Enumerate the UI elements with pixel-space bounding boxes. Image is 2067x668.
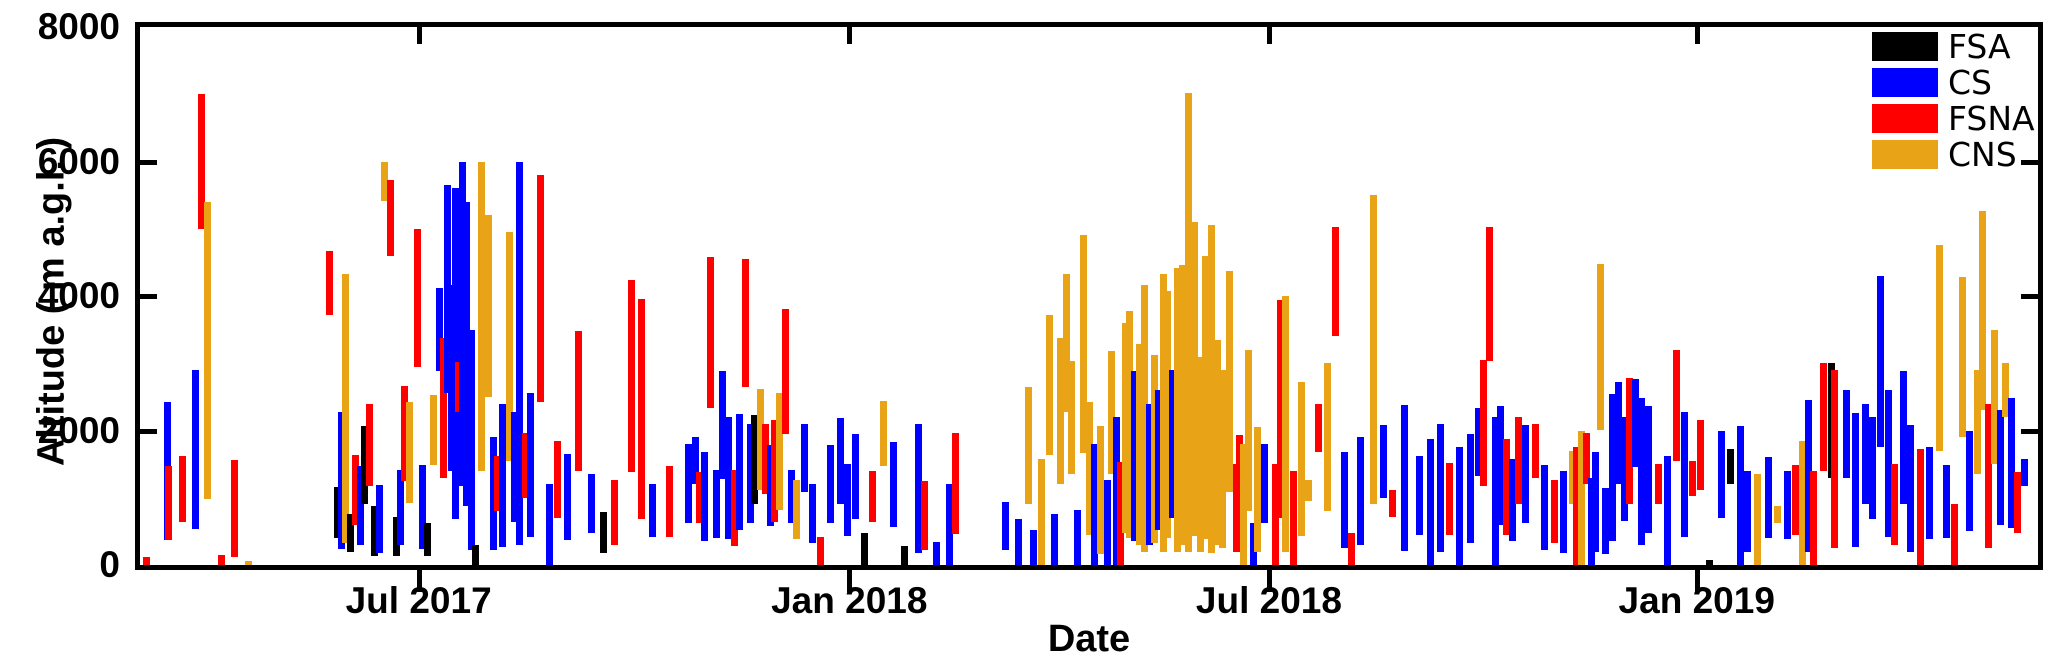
bar-segment [1051, 514, 1058, 565]
legend-item[interactable]: CNS [1872, 138, 2043, 171]
bar-segment [649, 484, 656, 536]
bar-segment [1486, 227, 1493, 361]
bar-segment [901, 546, 908, 565]
bar-segment [1689, 461, 1696, 495]
bar-segment [1290, 471, 1297, 565]
bar-segment [1664, 456, 1671, 565]
bar-segment [1979, 211, 1986, 410]
bar-segment [1551, 480, 1558, 543]
y-tick-mark [135, 160, 157, 165]
bar-segment [1541, 465, 1548, 550]
bar-segment [192, 370, 199, 529]
bar-segment [1681, 412, 1688, 537]
legend-label: CNS [1948, 138, 2017, 171]
bar-segment [472, 545, 479, 565]
bar-segment [1315, 404, 1322, 452]
bar-segment [1907, 425, 1914, 551]
bar-segment [1997, 410, 2004, 524]
bar-segment [817, 537, 824, 565]
bar-segment [861, 533, 868, 565]
bar-segment [793, 480, 800, 539]
bar-segment [809, 484, 816, 543]
x-tick-mark-top [417, 22, 422, 44]
bar-segment [1467, 434, 1474, 543]
bar-segment [952, 433, 959, 535]
bar-segment [424, 523, 431, 556]
bar-segment [1852, 413, 1859, 547]
bar-segment [1416, 456, 1423, 535]
bar-segment [869, 471, 876, 522]
bar-segment [1427, 439, 1434, 565]
bar-segment [1401, 405, 1408, 551]
bar-segment [801, 424, 808, 493]
bar-segment [1602, 488, 1609, 554]
bar-segment [1810, 471, 1817, 565]
bar-segment [245, 561, 252, 565]
bar-segment [1046, 315, 1053, 456]
legend-color-swatch [1872, 140, 1938, 169]
bar-segment [231, 460, 238, 557]
bar-segment [638, 299, 645, 519]
bar-segment [1324, 363, 1331, 511]
bar-segment [1380, 425, 1387, 498]
bar-segment [1645, 406, 1652, 532]
x-tick-mark-top [847, 22, 852, 44]
x-tick-label: Jan 2018 [771, 580, 927, 622]
y-tick-mark-right [2021, 429, 2043, 434]
bar-segment [165, 466, 172, 540]
bar-segment [844, 464, 851, 536]
y-tick-label: 2000 [38, 412, 120, 449]
bar-segment [204, 202, 211, 499]
bar-segment [537, 175, 544, 402]
bar-segment [890, 442, 897, 527]
x-tick-label: Jul 2018 [1196, 580, 1342, 622]
bar-segment [179, 456, 186, 522]
bar-segment [1820, 363, 1827, 471]
bar-segment [827, 445, 834, 523]
bar-segment [1480, 360, 1487, 486]
bar-segment [468, 330, 475, 550]
bar-segment [1754, 474, 1761, 565]
bar-segment [1673, 350, 1680, 462]
bar-segment [1737, 426, 1744, 565]
bar-segment [430, 395, 437, 466]
bar-segment [1943, 465, 1950, 538]
legend-color-swatch [1872, 32, 1938, 61]
bar-segment [1869, 417, 1876, 519]
bar-segment [1002, 502, 1009, 550]
bar-segment [1104, 480, 1111, 565]
y-tick-label: 0 [99, 546, 120, 583]
bar-segment [742, 259, 749, 387]
bar-segment [554, 441, 561, 518]
legend-color-swatch [1872, 68, 1938, 97]
bar-segment [1261, 444, 1268, 523]
legend-color-swatch [1872, 104, 1938, 133]
bar-segment [218, 555, 225, 565]
bar-segment [837, 418, 844, 505]
bar-segment [1532, 424, 1539, 478]
bar-segment [1332, 227, 1339, 336]
bar-segment [342, 274, 349, 543]
bar-segment [1936, 245, 1943, 451]
bar-segment [1638, 398, 1645, 545]
bar-segment [1282, 296, 1289, 552]
bar-segment [1792, 465, 1799, 534]
bar-segment [1456, 447, 1463, 565]
y-tick-label: 4000 [38, 277, 120, 314]
bar-segment [1389, 490, 1396, 517]
bar-segment [1348, 533, 1355, 565]
legend-label: FSNA [1948, 102, 2035, 135]
plot-area [135, 22, 2043, 570]
bar-segment [1744, 471, 1751, 552]
bar-segment [1727, 449, 1734, 484]
bar-segment [1370, 195, 1377, 504]
bar-segment [1298, 382, 1305, 536]
legend-item[interactable]: FSA [1872, 30, 2043, 63]
bar-segment [1784, 471, 1791, 540]
bar-segment [1025, 387, 1032, 504]
bar-segment [1926, 447, 1933, 539]
bar-segment [1877, 276, 1884, 447]
bar-segment [366, 404, 373, 486]
bar-segment [1655, 464, 1662, 504]
bar-segment [143, 557, 150, 565]
bar-segment [1592, 452, 1599, 552]
bar-segment [628, 280, 635, 472]
bar-segment [707, 257, 714, 408]
bar-segment [600, 512, 607, 553]
y-tick-label: 8000 [38, 8, 120, 45]
bar-segment [1522, 425, 1529, 523]
y-tick-mark [135, 294, 157, 299]
bar-segment [1891, 464, 1898, 545]
bar-segment [713, 470, 720, 539]
bar-segment [527, 393, 534, 537]
bar-segment [2021, 459, 2028, 486]
bar-segment [852, 434, 859, 519]
bar-segment [921, 481, 928, 550]
bar-segment [1917, 449, 1924, 565]
bar-segment [611, 480, 618, 545]
bar-segment [1030, 530, 1037, 565]
bar-segment [1831, 370, 1838, 548]
bar-segment [1446, 463, 1453, 536]
y-axis-tick-labels: 80006000400020000 [0, 0, 135, 668]
bar-segment [485, 215, 492, 397]
bar-segment [564, 454, 571, 540]
bar-segment [1959, 277, 1966, 437]
x-tick-mark-top [1695, 22, 1700, 44]
bar-segment [666, 466, 673, 537]
legend-item[interactable]: CS [1872, 66, 2043, 99]
x-tick-mark-top [1267, 22, 1272, 44]
bar-segment [1038, 459, 1045, 565]
bar-segment [575, 331, 582, 471]
bar-segment [1966, 431, 1973, 532]
bar-segment [1074, 510, 1081, 565]
bar-segment [1015, 519, 1022, 565]
x-tick-label: Jan 2019 [1619, 580, 1775, 622]
bar-segment [1843, 390, 1850, 477]
bar-segment [326, 251, 333, 315]
y-tick-label: 6000 [38, 143, 120, 180]
bar-segment [414, 229, 421, 368]
bar-segment [1862, 404, 1869, 505]
bar-segment [1305, 480, 1312, 502]
bar-segment [406, 402, 413, 503]
legend: FSACSFSNACNS [1872, 22, 2043, 182]
bar-segment [782, 309, 789, 433]
bar-segment [387, 180, 394, 256]
bar-segment [1900, 371, 1907, 504]
bar-segment [1068, 361, 1075, 475]
bar-segment [588, 474, 595, 533]
bar-segment [1357, 437, 1364, 545]
y-tick-mark-right [2021, 294, 2043, 299]
bar-segment [1245, 350, 1252, 511]
bar-segment [701, 452, 708, 541]
bar-segment [452, 188, 459, 519]
bars-layer [140, 27, 2038, 565]
bar-segment [1341, 452, 1348, 547]
chart-figure: Altitude ( m a.g.l. ) 80006000400020000 … [0, 0, 2067, 668]
bar-segment [880, 401, 887, 466]
bar-segment [1774, 506, 1781, 523]
x-axis-title: Date [1048, 618, 1130, 661]
bar-segment [736, 414, 743, 530]
bar-segment [1951, 504, 1958, 565]
bar-segment [1706, 560, 1713, 565]
bar-segment [1597, 264, 1604, 431]
bar-segment [933, 542, 940, 565]
bar-segment [376, 485, 383, 553]
legend-item[interactable]: FSNA [1872, 102, 2043, 135]
legend-label: FSA [1948, 30, 2011, 63]
bar-segment [2014, 472, 2021, 533]
bar-segment [1226, 271, 1233, 492]
bar-segment [1437, 424, 1444, 552]
bar-segment [1765, 457, 1772, 538]
bar-segment [1718, 431, 1725, 518]
x-tick-label: Jul 2017 [346, 580, 492, 622]
bar-segment [1560, 471, 1567, 553]
legend-label: CS [1948, 66, 1992, 99]
y-tick-mark [135, 429, 157, 434]
bar-segment [1697, 420, 1704, 491]
bar-segment [546, 484, 553, 565]
